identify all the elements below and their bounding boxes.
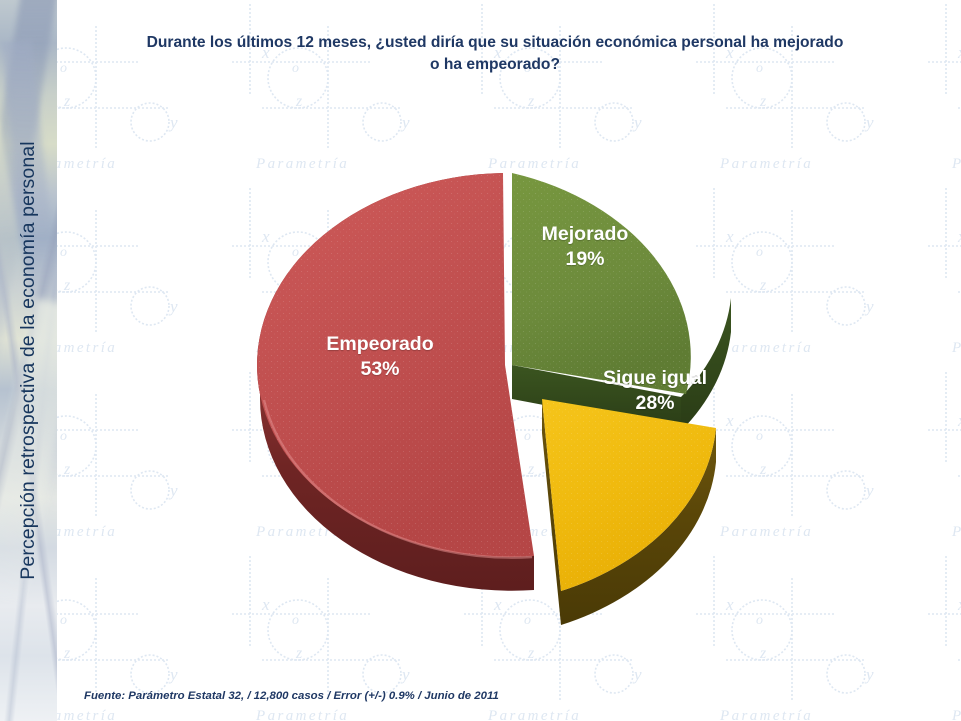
pie-label-empeorado-value: 53% [360,358,399,380]
slide-title-line-1: Durante los últimos 12 meses, ¿usted dir… [147,34,844,51]
slide-title-line-2: o ha empeorado? [430,56,560,73]
pie-slice-sigue-igual[interactable] [542,399,716,625]
pie-label-empeorado-name: Empeorado [326,333,433,355]
pie-label-mejorado-name: Mejorado [542,223,629,245]
source-footnote: Fuente: Parámetro Estatal 32, / 12,800 c… [84,690,499,702]
pie-label-empeorado: Empeorado 53% [288,332,472,382]
slide-canvas: x o z y Parametría Percepción retrospect… [0,0,961,721]
pie-label-sigue-igual: Sigue igual 28% [562,366,748,416]
pie-chart-graphic [0,0,961,721]
pie-label-mejorado-value: 19% [565,248,604,270]
pie-label-mejorado: Mejorado 19% [500,222,670,272]
pie-label-sigue-igual-name: Sigue igual [603,367,707,389]
slide-title: Durante los últimos 12 meses, ¿usted dir… [95,32,895,76]
pie-label-sigue-igual-value: 28% [635,392,674,414]
pie-chart: Mejorado 19% Sigue igual 28% Empeorado 5… [0,0,961,721]
